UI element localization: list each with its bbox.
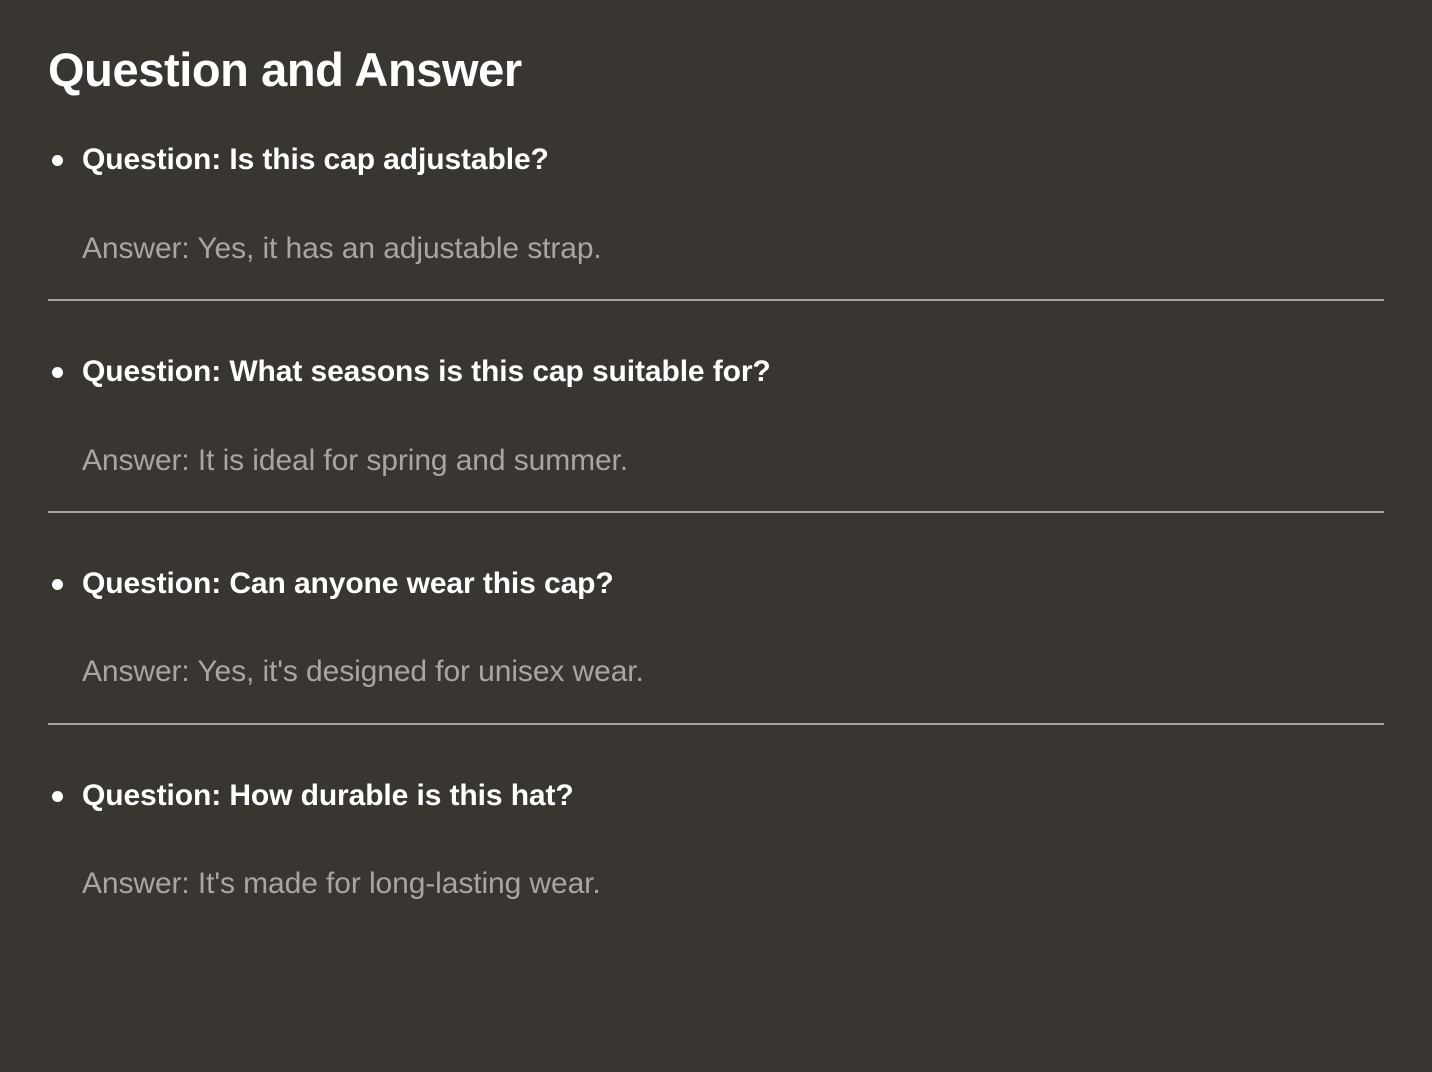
question-answer-panel: Question and Answer Question: Is this ca… (0, 0, 1432, 1072)
qa-item: Question: What seasons is this cap suita… (48, 309, 1384, 513)
qa-question-row: Question: Is this cap adjustable? (48, 141, 1384, 179)
bullet-dot-icon (52, 791, 63, 802)
bullet-dot-icon (52, 155, 63, 166)
bullet-dot-icon (52, 579, 63, 590)
qa-question-text: Question: What seasons is this cap suita… (82, 355, 771, 388)
qa-divider (48, 511, 1384, 513)
qa-question-text: Question: Is this cap adjustable? (82, 143, 549, 176)
qa-item: Question: Is this cap adjustable? Answer… (48, 97, 1384, 301)
qa-answer-text: Answer: Yes, it's designed for unisex we… (48, 653, 1384, 691)
qa-answer-text: Answer: It's made for long-lasting wear. (48, 865, 1384, 903)
qa-question-text: Question: Can anyone wear this cap? (82, 567, 614, 600)
qa-divider (48, 723, 1384, 725)
qa-question-text: Question: How durable is this hat? (82, 779, 574, 812)
qa-item: Question: Can anyone wear this cap? Answ… (48, 521, 1384, 725)
qa-list: Question: Is this cap adjustable? Answer… (48, 97, 1384, 903)
bullet-dot-icon (52, 367, 63, 378)
page-title: Question and Answer (48, 0, 1384, 97)
qa-divider (48, 299, 1384, 301)
qa-item: Question: How durable is this hat? Answe… (48, 733, 1384, 904)
qa-question-row: Question: Can anyone wear this cap? (48, 565, 1384, 603)
qa-question-row: Question: How durable is this hat? (48, 777, 1384, 815)
qa-question-row: Question: What seasons is this cap suita… (48, 353, 1384, 391)
qa-answer-text: Answer: It is ideal for spring and summe… (48, 442, 1384, 480)
qa-answer-text: Answer: Yes, it has an adjustable strap. (48, 230, 1384, 268)
